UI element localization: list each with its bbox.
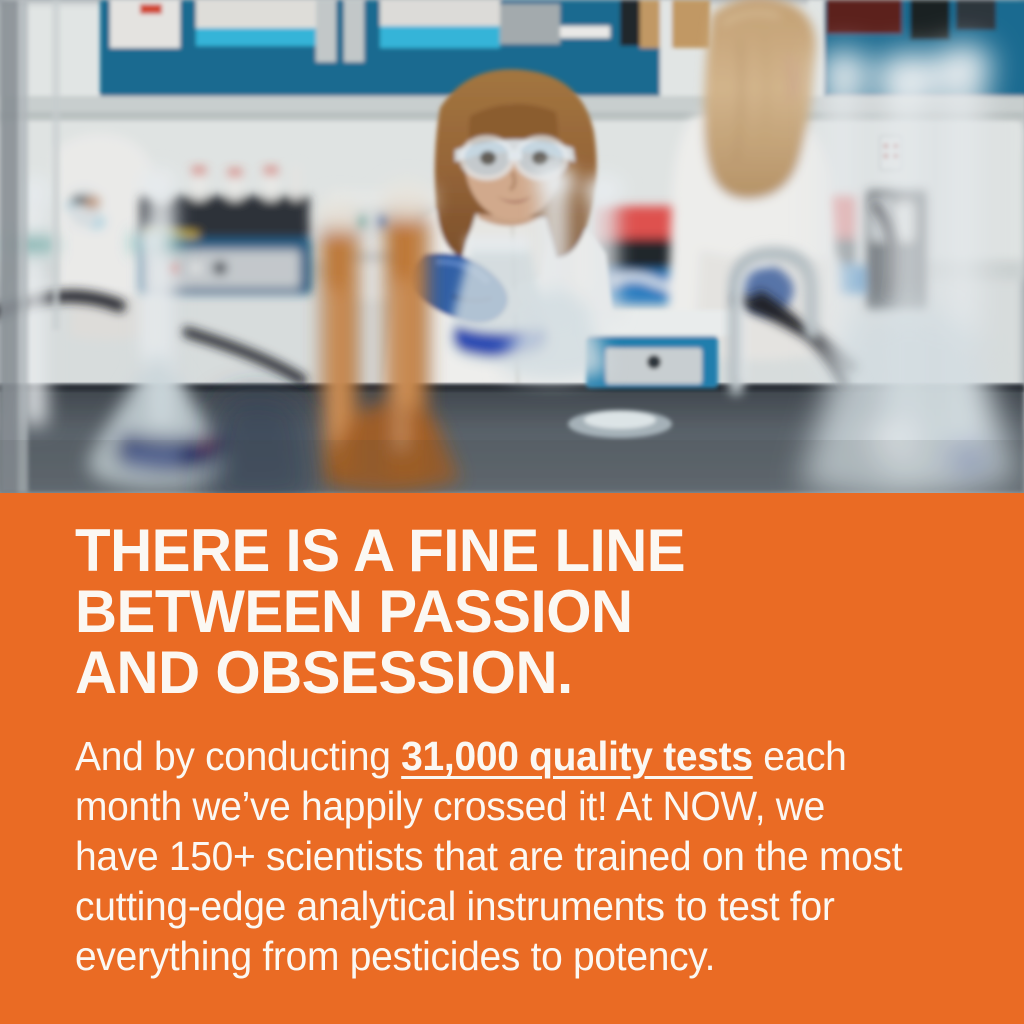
- laboratory-photo: 500: [0, 0, 1024, 493]
- body-copy: And by conducting 31,000 quality tests e…: [75, 731, 911, 981]
- page-title: THERE IS A FINE LINE BETWEEN PASSION AND…: [75, 520, 948, 703]
- body-copy-before: And by conducting: [75, 733, 401, 779]
- promo-poster: 500: [0, 0, 1024, 1024]
- orange-text-panel: THERE IS A FINE LINE BETWEEN PASSION AND…: [0, 493, 1024, 1024]
- quality-tests-emphasis: 31,000 quality tests: [401, 733, 753, 779]
- laboratory-photo-illustration: 500: [0, 0, 1024, 493]
